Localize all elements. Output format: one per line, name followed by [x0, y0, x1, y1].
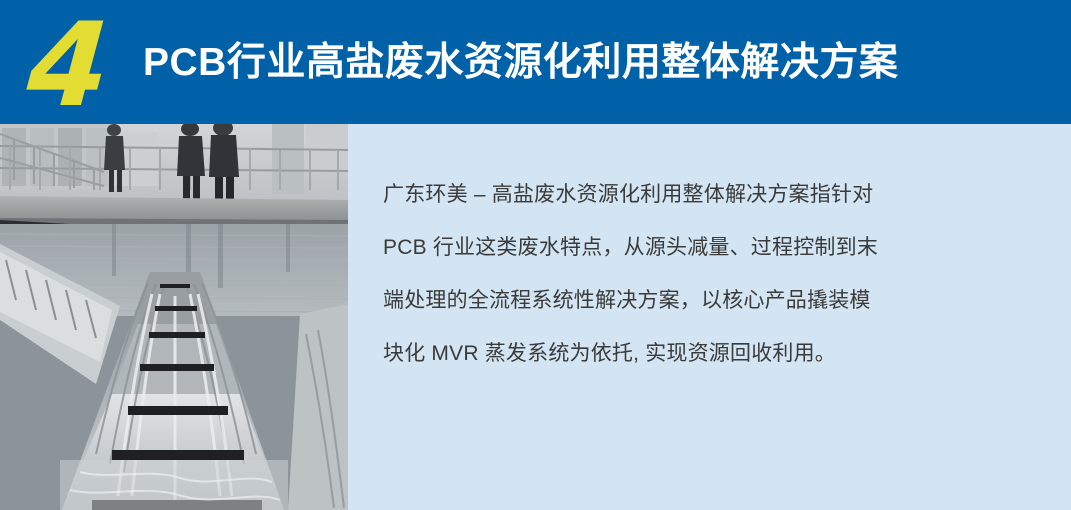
photo-illustration: [0, 124, 348, 510]
description-line-3: 端处理的全流程系统性解决方案，以核心产品撬装模: [383, 274, 1028, 327]
section-number-badge: 4: [24, 14, 138, 122]
header-band: 4 PCB行业高盐废水资源化利用整体解决方案: [0, 0, 1071, 124]
description-text: 广东环美 – 高盐废水资源化利用整体解决方案指针对 PCB 行业这类废水特点，从…: [383, 168, 1028, 380]
wastewater-plant-photo: [0, 124, 348, 510]
slide-root: 4 PCB行业高盐废水资源化利用整体解决方案: [0, 0, 1071, 510]
description-line-1: 广东环美 – 高盐废水资源化利用整体解决方案指针对: [383, 168, 1028, 221]
page-title: PCB行业高盐废水资源化利用整体解决方案: [143, 36, 898, 92]
description-line-4: 块化 MVR 蒸发系统为依托, 实现资源回收利用。: [383, 327, 1028, 380]
description-line-2: PCB 行业这类废水特点，从源头减量、过程控制到末: [383, 221, 1028, 274]
